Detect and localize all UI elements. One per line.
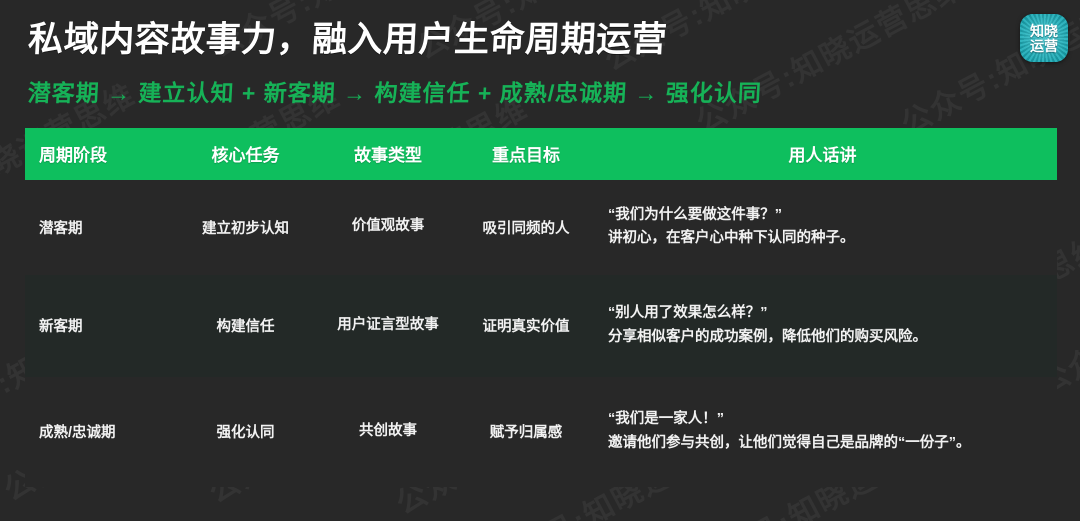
cell-speak: “别人用了效果怎么样？” 分享相似客户的成功案例，降低他们的购买风险。 (594, 302, 1057, 349)
cell-task: 建立初步认知 (173, 217, 318, 238)
cell-speak: “我们为什么要做这件事？” 讲初心，在客户心中种下认同的种子。 (594, 204, 1057, 251)
cell-task: 强化认同 (173, 421, 318, 442)
cell-goal: 赋予归属感 (458, 421, 594, 442)
header-block: 私域内容故事力，融入用户生命周期运营 潜客期 → 建立认知 + 新客期 → 构建… (0, 0, 1080, 108)
cell-story-type: 用户证言型故事 (318, 315, 458, 337)
speak-line: 邀请他们参与共创，让他们觉得自己是品牌的“一份子”。 (608, 432, 1051, 455)
cell-task: 构建信任 (173, 315, 318, 336)
cell-stage: 新客期 (25, 315, 173, 336)
column-header-story-type: 故事类型 (318, 141, 458, 166)
column-header-stage: 周期阶段 (25, 141, 173, 166)
speak-line: “别人用了效果怎么样？” (608, 302, 1051, 325)
cell-stage: 潜客期 (25, 217, 173, 238)
column-header-task: 核心任务 (173, 141, 318, 166)
logo-line-1: 知晓 (1030, 24, 1058, 38)
table-row: 成熟/忠诚期 强化认同 共创故事 赋予归属感 “我们是一家人！” 邀请他们参与共… (25, 377, 1057, 487)
speak-line: 分享相似客户的成功案例，降低他们的购买风险。 (608, 326, 1051, 349)
table-header-row: 周期阶段 核心任务 故事类型 重点目标 用人话讲 (25, 128, 1057, 180)
cell-story-type-text: 价值观故事 (352, 216, 425, 238)
speak-line: “我们是一家人！” (608, 408, 1051, 431)
logo-text: 知晓 运营 (1020, 14, 1068, 62)
logo-line-2: 运营 (1030, 39, 1058, 53)
speak-line: 讲初心，在客户心中种下认同的种子。 (608, 227, 1051, 250)
cell-goal: 吸引同频的人 (458, 217, 594, 238)
cell-story-type-text: 用户证言型故事 (337, 315, 439, 337)
speak-line: “我们为什么要做这件事？” (608, 204, 1051, 227)
cell-speak: “我们是一家人！” 邀请他们参与共创，让他们觉得自己是品牌的“一份子”。 (594, 408, 1057, 455)
page-title: 私域内容故事力，融入用户生命周期运营 (27, 18, 668, 62)
cell-story-type-text: 共创故事 (359, 421, 417, 443)
column-header-goal: 重点目标 (458, 141, 594, 166)
column-header-speak: 用人话讲 (594, 141, 1057, 166)
cell-goal: 证明真实价值 (458, 315, 594, 336)
story-table: 周期阶段 核心任务 故事类型 重点目标 用人话讲 潜客期 建立初步认知 价值观故… (25, 128, 1057, 487)
brand-logo: 知晓 运营 (1020, 14, 1068, 62)
cell-story-type: 共创故事 (318, 421, 458, 443)
cell-story-type: 价值观故事 (318, 216, 458, 238)
table-row: 新客期 构建信任 用户证言型故事 证明真实价值 “别人用了效果怎么样？” 分享相… (25, 275, 1057, 377)
slide-page: 私域内容故事力，融入用户生命周期运营 潜客期 → 建立认知 + 新客期 → 构建… (0, 0, 1080, 521)
cell-stage: 成熟/忠诚期 (25, 421, 173, 442)
page-subtitle: 潜客期 → 建立认知 + 新客期 → 构建信任 + 成熟/忠诚期 → 强化认同 (27, 74, 763, 108)
table-row: 潜客期 建立初步认知 价值观故事 吸引同频的人 “我们为什么要做这件事？” 讲初… (25, 180, 1057, 275)
